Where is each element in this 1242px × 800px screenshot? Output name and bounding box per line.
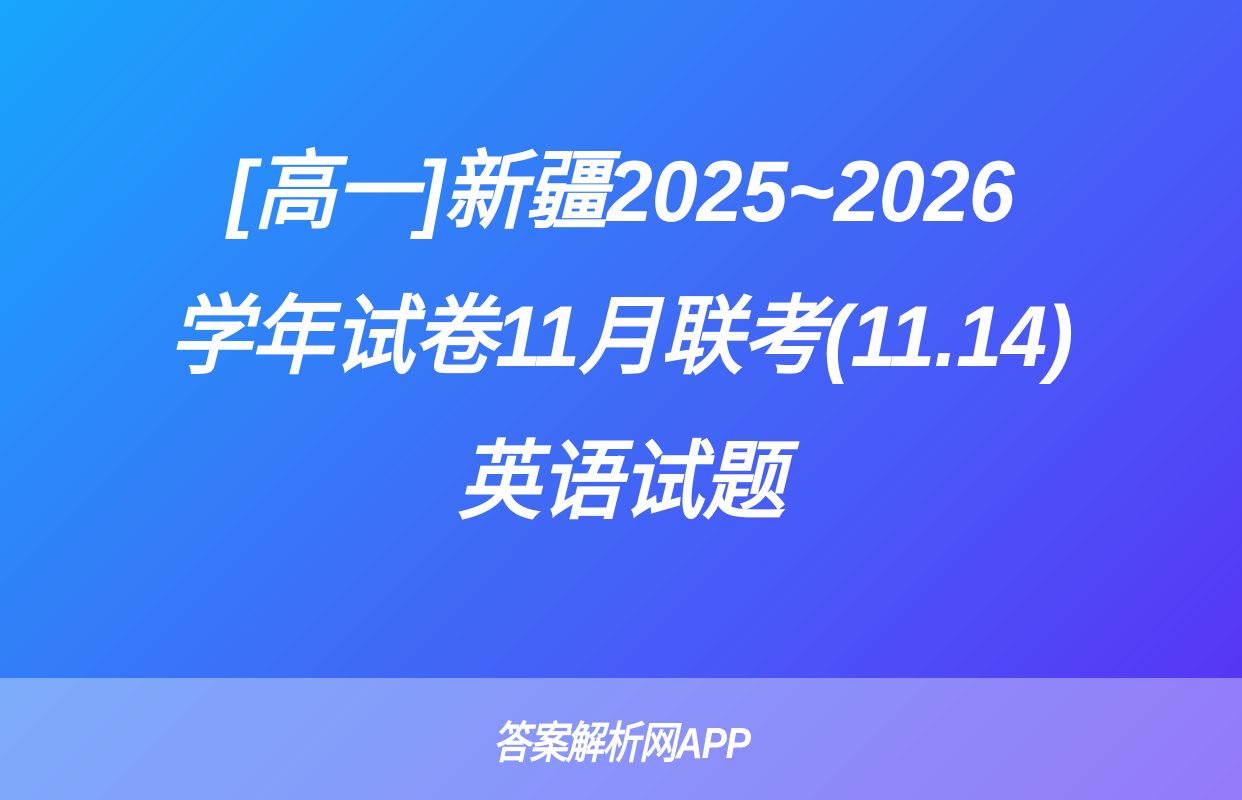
title-line-3: 英语试题 xyxy=(458,410,784,555)
title-line-2: 学年试卷11月联考(11.14) xyxy=(169,265,1073,410)
title-block: [高一]新疆2025~2026 学年试卷11月联考(11.14) 英语试题 xyxy=(0,0,1242,678)
app-watermark-label: 答案解析网APP xyxy=(493,707,750,771)
title-line-1: [高一]新疆2025~2026 xyxy=(228,120,1014,265)
exam-cover-banner: [高一]新疆2025~2026 学年试卷11月联考(11.14) 英语试题 答案… xyxy=(0,0,1242,800)
footer-bar: 答案解析网APP xyxy=(0,678,1242,800)
